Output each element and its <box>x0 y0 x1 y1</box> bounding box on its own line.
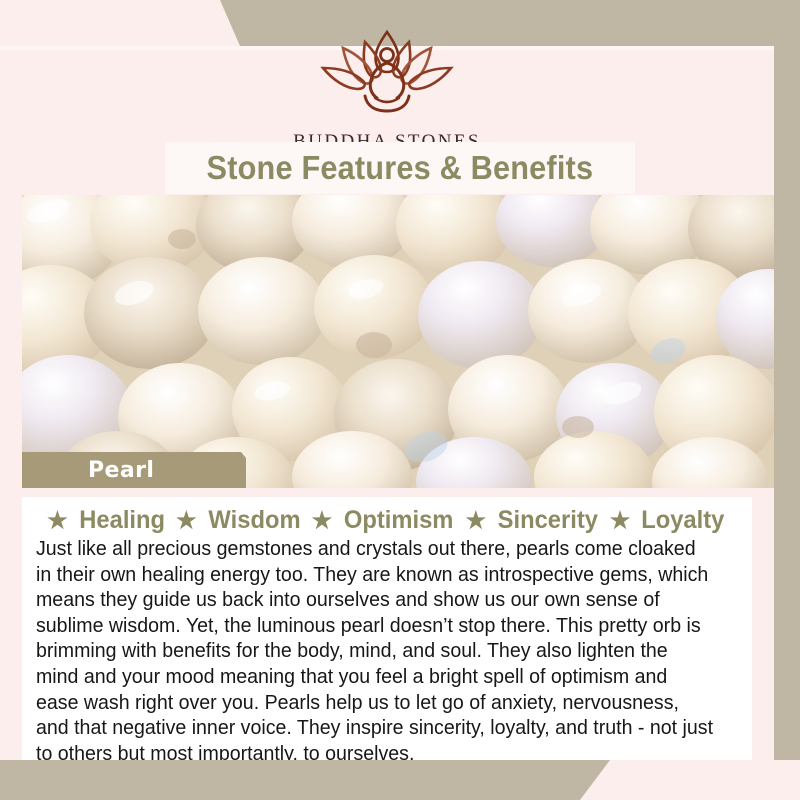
keyword-loyalty: Loyalty <box>642 506 725 535</box>
keyword-sincerity: Sincerity <box>498 506 598 535</box>
brand-logo: BUDDHA STONES <box>0 22 774 153</box>
poster-root: BUDDHA STONES Stone Features & Benefits <box>0 0 800 800</box>
description-paragraph: Just like all precious gemstones and cry… <box>36 537 713 767</box>
star-icon: ★ <box>610 509 631 532</box>
photo-caption-bar: Pearl <box>22 452 246 488</box>
keyword-wisdom: Wisdom <box>208 506 300 535</box>
keyword-optimism: Optimism <box>344 506 454 535</box>
star-icon: ★ <box>466 509 487 532</box>
keyword-healing: Healing <box>79 506 165 535</box>
frame-bottom-accent <box>580 760 800 800</box>
star-icon: ★ <box>176 509 197 532</box>
benefit-keyword-row: ★ Healing ★ Wisdom ★ Optimism ★ Sincerit… <box>22 497 752 535</box>
star-icon: ★ <box>312 509 333 532</box>
star-icon: ★ <box>47 509 68 532</box>
lotus-meditation-figure-icon <box>297 22 477 127</box>
pearl-photo <box>22 195 774 488</box>
stone-name: Pearl <box>88 458 154 483</box>
content-panel: ★ Healing ★ Wisdom ★ Optimism ★ Sincerit… <box>22 497 752 760</box>
frame-right-band <box>774 0 800 800</box>
title-banner: Stone Features & Benefits <box>165 142 635 194</box>
page-title: Stone Features & Benefits <box>207 149 594 187</box>
